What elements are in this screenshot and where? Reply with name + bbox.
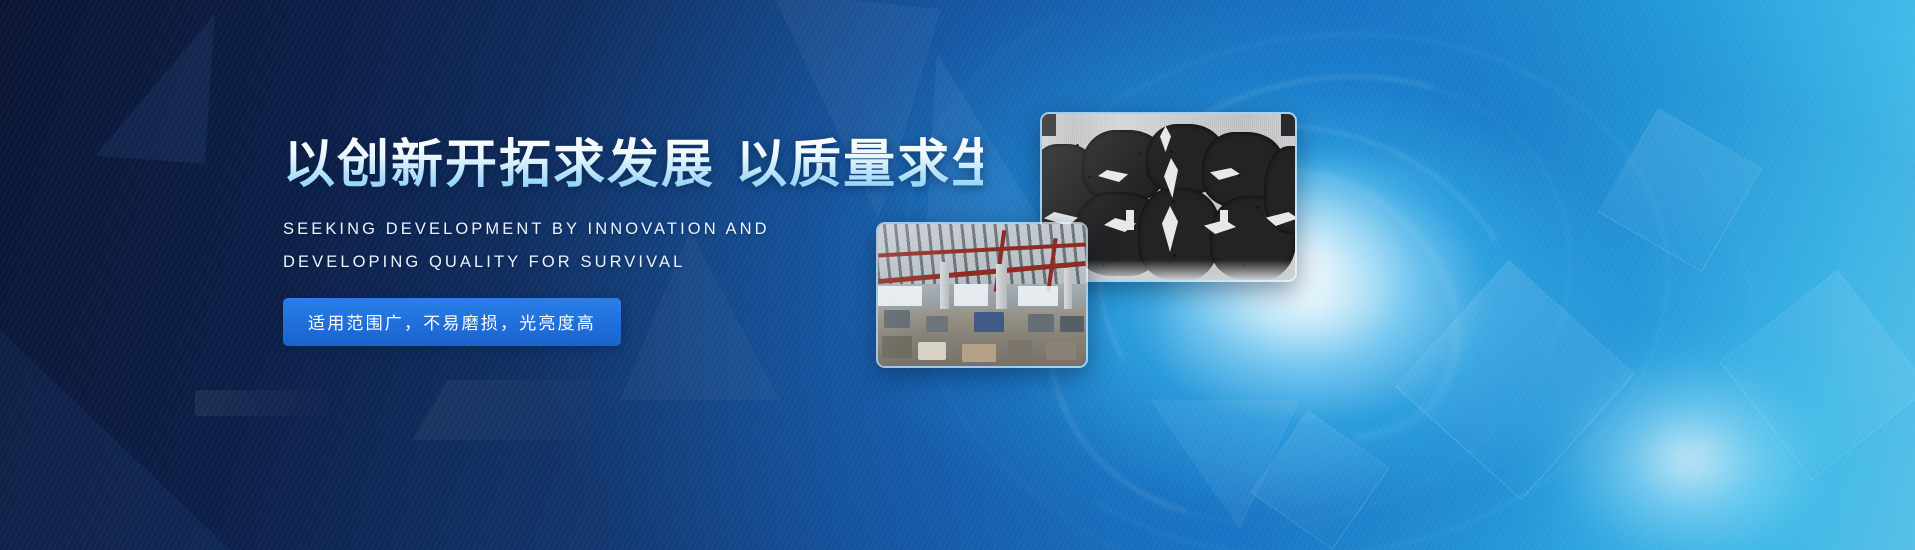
workshop-window [878, 286, 922, 306]
workshop-machine [1028, 314, 1054, 332]
workshop-window [1018, 286, 1058, 306]
background-watermark [195, 390, 335, 416]
workshop-crate [1008, 340, 1032, 360]
workshop-machine [884, 310, 910, 328]
mold-sipe [1126, 210, 1134, 230]
vent-hole [1238, 174, 1241, 177]
vent-hole [1170, 150, 1173, 153]
vent-hole [1256, 206, 1259, 209]
vent-hole [1088, 176, 1091, 179]
vent-hole [1138, 152, 1141, 155]
workshop-window [954, 284, 988, 306]
banner-subtitle: SEEKING DEVELOPMENT BY INNOVATION AND DE… [283, 213, 883, 279]
light-facet-5 [1720, 270, 1915, 481]
workshop-machine [1060, 316, 1084, 332]
vent-hole [1076, 144, 1079, 147]
light-facet-3 [1395, 260, 1635, 500]
feature-badge[interactable]: 适用范围广，不易磨损，光亮度高 [283, 298, 621, 346]
workshop-crate [1046, 342, 1076, 360]
light-facet-8 [95, 6, 215, 163]
vent-hole [1173, 254, 1176, 257]
workshop-crate [882, 336, 912, 358]
mold-sipe [1220, 210, 1228, 230]
factory-workshop-photo[interactable] [876, 222, 1088, 368]
vent-hole [1172, 200, 1175, 203]
banner-headline: 以创新开拓求发展 以质量求生存 [283, 136, 983, 194]
hero-banner: 以创新开拓求发展 以质量求生存 SEEKING DEVELOPMENT BY I… [0, 0, 1915, 550]
secondary-glow [1520, 330, 1860, 550]
workshop-machine [974, 312, 1004, 332]
worker-figure [918, 342, 946, 360]
mold-edge-notch [1281, 114, 1295, 136]
light-facet-11 [413, 380, 638, 440]
light-facet-7 [1150, 400, 1300, 530]
mold-edge-notch [1042, 114, 1056, 136]
workshop-machine [926, 316, 948, 332]
light-facet-4 [1598, 108, 1762, 272]
light-facet-10 [1250, 410, 1389, 549]
workshop-crate [962, 344, 996, 362]
light-facet-9 [0, 330, 230, 550]
